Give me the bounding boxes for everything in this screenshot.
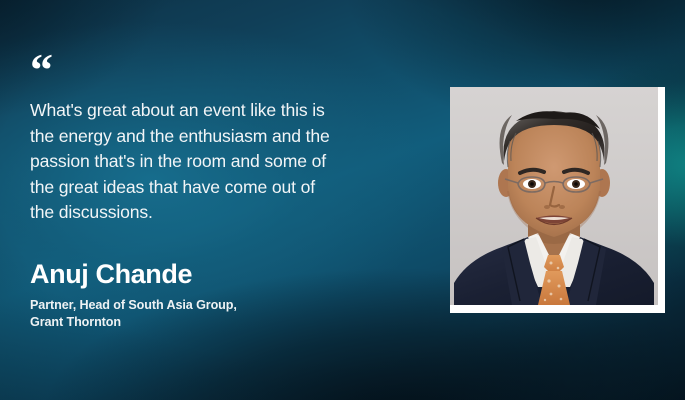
portrait-frame [450,87,665,313]
quote-card: “ What's great about an event like this … [0,0,685,400]
quote-mark-icon: “ [30,55,430,87]
speaker-name: Anuj Chande [30,258,430,290]
quote-text: What's great about an event like this is… [30,98,430,226]
speaker-role: Partner, Head of South Asia Group, Grant… [30,297,430,330]
portrait-photo [450,87,658,305]
attribution-block: Anuj Chande Partner, Head of South Asia … [30,258,430,330]
portrait-illustration [450,87,658,305]
quote-block: “ What's great about an event like this … [30,55,430,226]
